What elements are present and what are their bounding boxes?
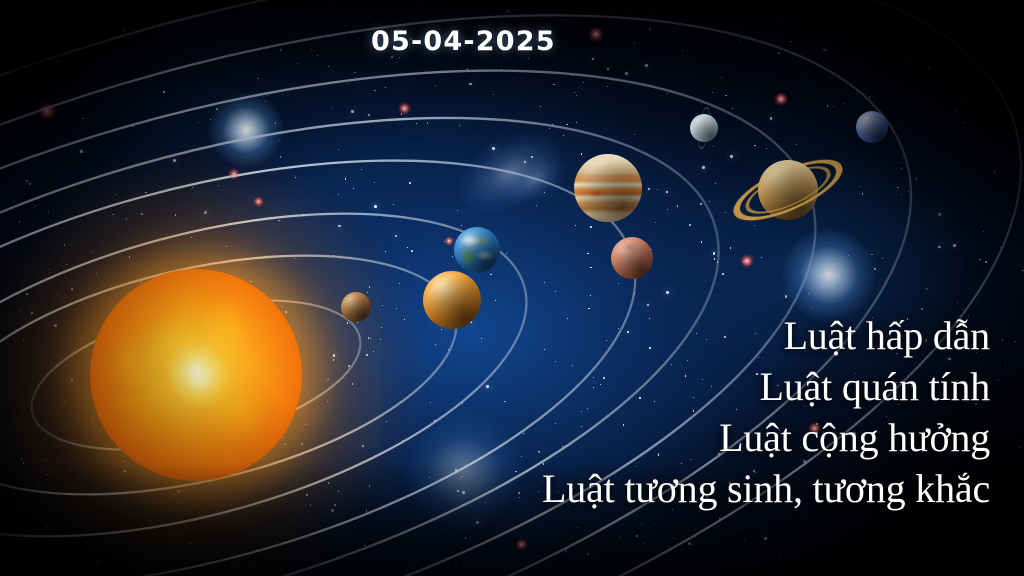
neptune-shadow [856,111,888,143]
law-line-3: Luật cộng hưởng [542,412,990,463]
mercury-shadow [341,292,371,322]
jupiter-shadow [574,154,642,222]
planet-mars [611,237,653,279]
sun-limb [90,269,302,481]
planet-jupiter [574,154,642,222]
planet-venus [423,271,481,329]
law-line-2: Luật quán tính [542,361,990,412]
date-label: 05-04-2025 [371,26,556,57]
venus-shadow [423,271,481,329]
earth-shadow [454,227,500,273]
law-line-4: Luật tương sinh, tương khắc [542,463,990,514]
sun [90,269,302,481]
planet-neptune [856,111,888,143]
solar-system-graphic: 05-04-2025 Luật hấp dẫn Luật quán tính L… [0,0,1024,576]
planet-earth [454,227,500,273]
planet-saturn [728,130,848,250]
law-line-1: Luật hấp dẫn [542,310,990,361]
planet-uranus [682,106,726,150]
jupiter-great-red-spot [589,190,605,197]
planet-mercury [341,292,371,322]
mars-shadow [611,237,653,279]
uranus-shadow [690,114,718,142]
uranus-body [690,114,718,142]
laws-text-block: Luật hấp dẫn Luật quán tính Luật cộng hư… [542,310,990,514]
